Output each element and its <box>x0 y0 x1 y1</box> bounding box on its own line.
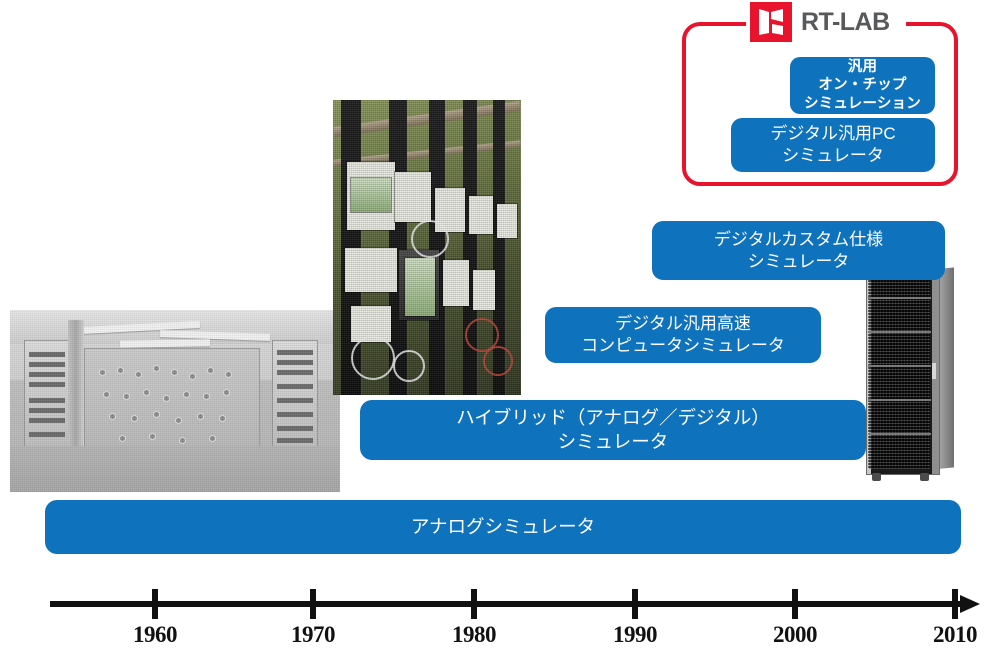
timeline-diagram: 汎用 オン・チップ シミュレーション デジタル汎用PC シミュレータ デジタルカ… <box>0 0 1000 651</box>
rtlab-brand-title: RT-LAB <box>801 8 890 37</box>
axis-tick-label-2000: 2000 <box>773 622 817 648</box>
bar-hybrid-simulator[interactable]: ハイブリッド（アナログ／デジタル） シミュレータ <box>360 400 866 460</box>
rtlab-logo-icon <box>750 2 792 42</box>
rack-mesh <box>868 265 930 469</box>
photo-film-grain <box>333 100 521 395</box>
rack-door-handle <box>932 363 936 379</box>
bar-analog-simulator[interactable]: アナログシミュレータ <box>45 500 961 554</box>
rtlab-brand-header: RT-LAB <box>750 2 890 42</box>
bar-digital-custom-simulator[interactable]: デジタルカスタム仕様 シミュレータ <box>652 221 945 280</box>
photo-film-grain <box>10 310 340 492</box>
axis-tick-label-2010: 2010 <box>933 622 977 648</box>
bar-digital-highspeed-computer-simulator[interactable]: デジタル汎用高速 コンピュータシミュレータ <box>545 307 821 363</box>
axis-tick-label-1980: 1980 <box>452 622 496 648</box>
digital-server-rack-photo <box>862 255 956 481</box>
axis-tick-label-1970: 1970 <box>291 622 335 648</box>
rtlab-callout-box <box>682 22 958 186</box>
hybrid-simulator-rack-photo <box>333 100 521 395</box>
rack-side-panel <box>938 267 954 469</box>
axis-tick-label-1960: 1960 <box>133 622 177 648</box>
axis-tick-label-1990: 1990 <box>613 622 657 648</box>
analog-simulator-control-room-photo <box>10 310 340 492</box>
